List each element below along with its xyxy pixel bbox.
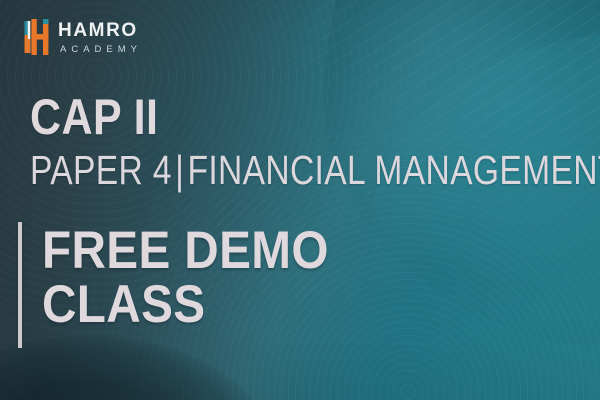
course-title: CAP II (30, 94, 500, 140)
cta-line-2: CLASS (42, 278, 329, 332)
brand-name: HAMRO (58, 21, 142, 40)
headline-block: CAP II PAPER 4|FINANCIAL MANAGEMENT (30, 94, 576, 191)
course-subtitle-line: PAPER 4|FINANCIAL MANAGEMENT (30, 150, 478, 191)
cta-accent-rule (18, 222, 22, 348)
hamro-h-monogram-icon (24, 17, 50, 57)
brand-wordmark: HAMRO ACADEMY (58, 20, 142, 55)
title-divider: | (172, 147, 188, 193)
brand-logo: HAMRO ACADEMY (24, 17, 142, 57)
subject-name: FINANCIAL MANAGEMENT (187, 147, 600, 193)
banner-content: HAMRO ACADEMY CAP II PAPER 4|FINANCIAL M… (0, 0, 600, 400)
cta-line-1: FREE DEMO (42, 224, 329, 278)
brand-subtitle: ACADEMY (58, 45, 142, 55)
promo-banner: HAMRO ACADEMY CAP II PAPER 4|FINANCIAL M… (0, 0, 600, 400)
cta-block: FREE DEMO CLASS (18, 222, 361, 348)
cta-text: FREE DEMO CLASS (42, 222, 361, 348)
paper-label: PAPER 4 (30, 147, 172, 193)
